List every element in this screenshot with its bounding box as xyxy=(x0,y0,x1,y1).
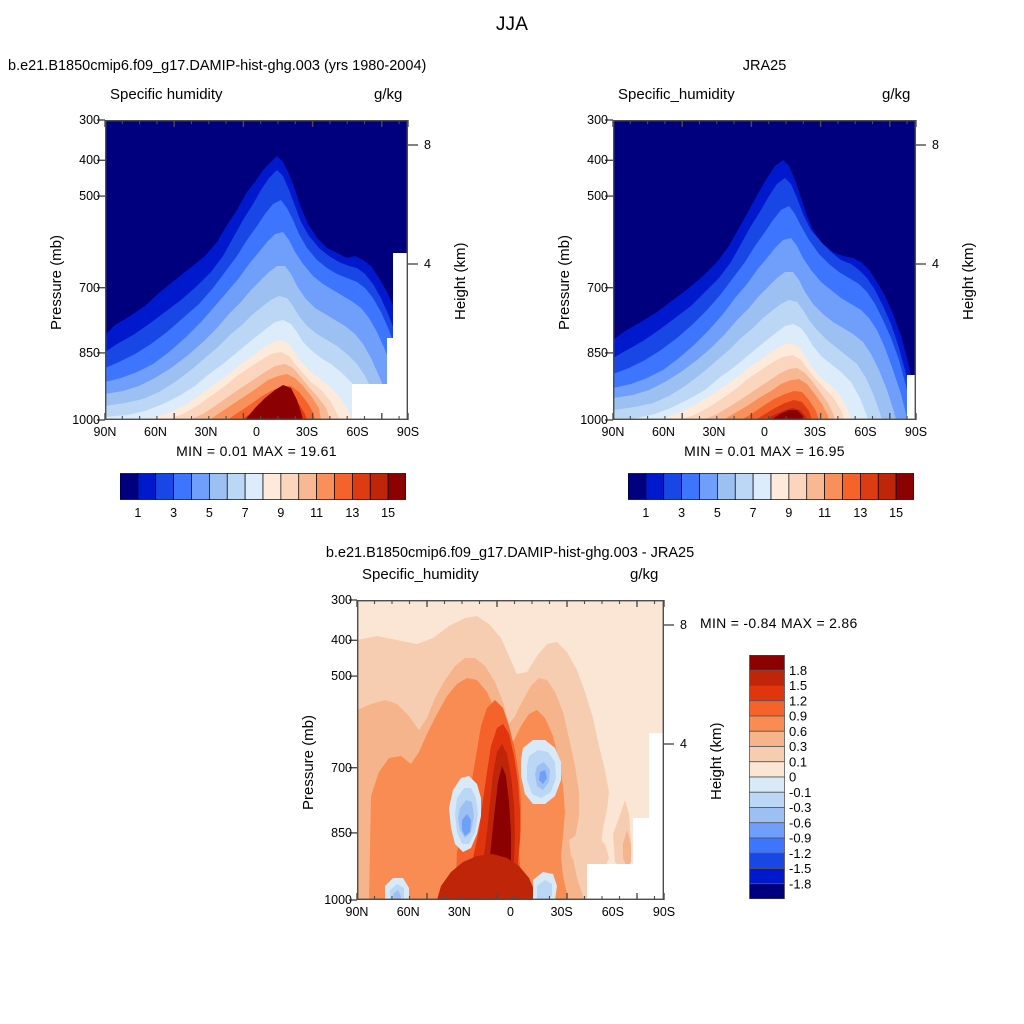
svg-text:7: 7 xyxy=(750,506,757,520)
diff-ylabel-700: 700 xyxy=(322,761,352,775)
svg-text:-1.5: -1.5 xyxy=(789,861,811,876)
diff-ylabel-400: 400 xyxy=(322,633,352,647)
svg-text:5: 5 xyxy=(206,506,213,520)
model-yaxis-title: Pressure (mb) xyxy=(48,235,65,330)
svg-text:-0.9: -0.9 xyxy=(789,831,811,846)
model-ylabel-300: 300 xyxy=(70,113,100,127)
model-units-label: g/kg xyxy=(374,86,402,103)
model-colorbar-labels: 13579111315 xyxy=(120,503,406,523)
model-ylabel-700: 700 xyxy=(70,281,100,295)
obs-height-4: 4 xyxy=(932,257,939,271)
model-xlabel-30N: 30N xyxy=(186,425,226,439)
diff-xlabel-30N: 30N xyxy=(439,905,479,919)
obs-units-label: g/kg xyxy=(882,86,910,103)
svg-text:13: 13 xyxy=(853,506,867,520)
figure-season-title: JJA xyxy=(0,14,1024,36)
diff-ylabel-300: 300 xyxy=(322,593,352,607)
diff-xlabel-60S: 60S xyxy=(593,905,633,919)
model-height-8: 8 xyxy=(424,138,431,152)
obs-xlabel-60N: 60N xyxy=(644,425,684,439)
svg-text:1: 1 xyxy=(134,506,141,520)
obs-colorbar xyxy=(628,473,914,500)
model-ylabel-500: 500 xyxy=(70,189,100,203)
diff-height-8: 8 xyxy=(680,618,687,632)
svg-text:9: 9 xyxy=(277,506,284,520)
diff-xlabel-90N: 90N xyxy=(337,905,377,919)
svg-text:1.2: 1.2 xyxy=(789,693,807,708)
obs-ylabel-850: 850 xyxy=(578,346,608,360)
obs-variable-label: Specific_humidity xyxy=(618,86,735,103)
model-xlabel-60S: 60S xyxy=(338,425,378,439)
model-height-4: 4 xyxy=(424,257,431,271)
obs-minmax: MIN = 0.01 MAX = 16.95 xyxy=(613,443,916,459)
svg-text:3: 3 xyxy=(678,506,685,520)
diff-xlabel-90S: 90S xyxy=(644,905,684,919)
model-panel-title: b.e21.B1850cmip6.f09_g17.DAMIP-hist-ghg.… xyxy=(8,58,426,74)
svg-text:-0.3: -0.3 xyxy=(789,800,811,815)
model-axes-decor xyxy=(60,108,460,438)
obs-height-8: 8 xyxy=(932,138,939,152)
svg-text:7: 7 xyxy=(242,506,249,520)
obs-xlabel-90S: 90S xyxy=(896,425,936,439)
obs-ylabel-700: 700 xyxy=(578,281,608,295)
svg-text:-0.6: -0.6 xyxy=(789,815,811,830)
model-xlabel-30S: 30S xyxy=(287,425,327,439)
svg-text:0.9: 0.9 xyxy=(789,709,807,724)
model-xlabel-90N: 90N xyxy=(85,425,125,439)
diff-axes-decor xyxy=(312,588,712,918)
diff-height-4: 4 xyxy=(680,737,687,751)
obs-panel-title: JRA25 xyxy=(613,58,916,74)
svg-text:3: 3 xyxy=(170,506,177,520)
diff-xlabel-30S: 30S xyxy=(542,905,582,919)
svg-text:1.8: 1.8 xyxy=(789,663,807,678)
diff-colorbar-vertical-labels: 1.81.51.20.90.60.30.10-0.1-0.3-0.6-0.9-1… xyxy=(787,655,835,899)
diff-yaxis-title: Pressure (mb) xyxy=(300,715,317,810)
svg-text:11: 11 xyxy=(818,506,831,520)
svg-text:1: 1 xyxy=(642,506,649,520)
obs-xlabel-30S: 30S xyxy=(795,425,835,439)
svg-text:0.3: 0.3 xyxy=(789,739,807,754)
obs-xlabel-60S: 60S xyxy=(846,425,886,439)
diff-y2axis-title: Height (km) xyxy=(708,722,725,800)
svg-text:5: 5 xyxy=(714,506,721,520)
svg-text:-0.1: -0.1 xyxy=(789,785,811,800)
svg-text:0: 0 xyxy=(789,770,796,785)
diff-panel-title: b.e21.B1850cmip6.f09_g17.DAMIP-hist-ghg.… xyxy=(250,545,770,561)
model-ylabel-400: 400 xyxy=(70,153,100,167)
diff-minmax: MIN = -0.84 MAX = 2.86 xyxy=(700,615,858,631)
model-xlabel-90S: 90S xyxy=(388,425,428,439)
svg-text:0.1: 0.1 xyxy=(789,754,807,769)
diff-xlabel-0: 0 xyxy=(491,905,531,919)
obs-yaxis-title: Pressure (mb) xyxy=(556,235,573,330)
model-colorbar xyxy=(120,473,406,500)
model-xlabel-0: 0 xyxy=(237,425,277,439)
svg-text:15: 15 xyxy=(381,506,395,520)
diff-xlabel-60N: 60N xyxy=(388,905,428,919)
obs-xlabel-90N: 90N xyxy=(593,425,633,439)
diff-variable-label: Specific_humidity xyxy=(362,566,479,583)
svg-text:11: 11 xyxy=(310,506,323,520)
obs-ylabel-300: 300 xyxy=(578,113,608,127)
diff-colorbar-vertical xyxy=(749,655,785,899)
obs-colorbar-labels: 13579111315 xyxy=(628,503,914,523)
obs-ylabel-500: 500 xyxy=(578,189,608,203)
svg-text:13: 13 xyxy=(345,506,359,520)
svg-text:1.5: 1.5 xyxy=(789,678,807,693)
model-y2axis-title: Height (km) xyxy=(452,242,469,320)
model-xlabel-60N: 60N xyxy=(136,425,176,439)
model-ylabel-850: 850 xyxy=(70,346,100,360)
svg-text:0.6: 0.6 xyxy=(789,724,807,739)
model-variable-label: Specific humidity xyxy=(110,86,223,103)
obs-axes-decor xyxy=(568,108,968,438)
svg-text:9: 9 xyxy=(785,506,792,520)
diff-ylabel-850: 850 xyxy=(322,826,352,840)
model-minmax: MIN = 0.01 MAX = 19.61 xyxy=(105,443,408,459)
obs-y2axis-title: Height (km) xyxy=(960,242,977,320)
diff-ylabel-500: 500 xyxy=(322,669,352,683)
obs-xlabel-0: 0 xyxy=(745,425,785,439)
svg-text:15: 15 xyxy=(889,506,903,520)
svg-text:-1.8: -1.8 xyxy=(789,876,811,891)
diff-units-label: g/kg xyxy=(630,566,658,583)
obs-ylabel-400: 400 xyxy=(578,153,608,167)
obs-xlabel-30N: 30N xyxy=(694,425,734,439)
svg-text:-1.2: -1.2 xyxy=(789,846,811,861)
